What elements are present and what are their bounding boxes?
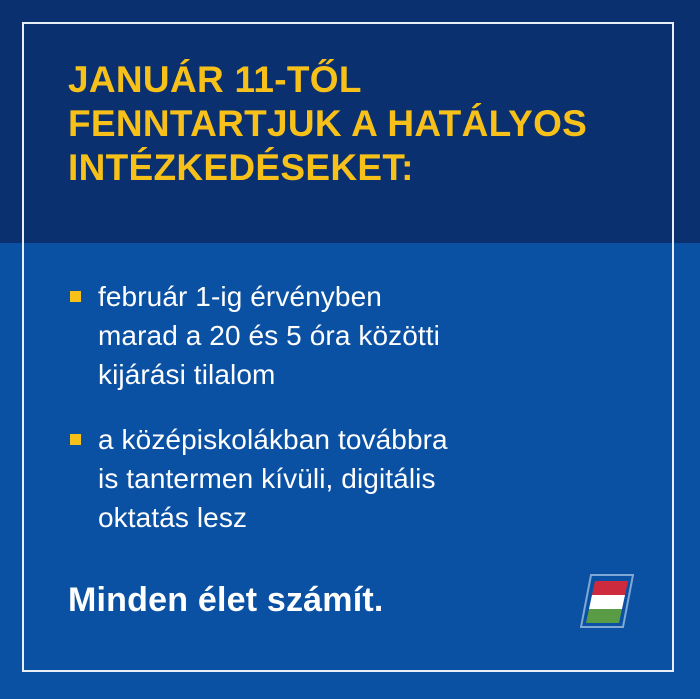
bullet-2-line-3: oktatás lesz xyxy=(98,498,628,537)
bullet-2-line-1: a középiskolákban továbbra xyxy=(98,420,628,459)
list-item: a középiskolákban továbbra is tantermen … xyxy=(68,420,628,537)
headline-line-1: JANUÁR 11-TŐL xyxy=(68,58,658,102)
hungarian-flag-icon xyxy=(580,572,634,630)
list-item: február 1-ig érvényben marad a 20 és 5 ó… xyxy=(68,277,628,394)
square-bullet-icon xyxy=(70,434,81,445)
bullet-1-line-3: kijárási tilalom xyxy=(98,355,628,394)
bullet-2-line-2: is tantermen kívüli, digitális xyxy=(98,459,628,498)
footer: Minden élet számít. xyxy=(68,576,634,636)
bullet-1-line-1: február 1-ig érvényben xyxy=(98,277,628,316)
square-bullet-icon xyxy=(70,291,81,302)
headline-line-3: INTÉZKEDÉSEKET: xyxy=(68,146,658,190)
poster-canvas: JANUÁR 11-TŐL FENNTARTJUK A HATÁLYOS INT… xyxy=(0,0,700,699)
page-title: JANUÁR 11-TŐL FENNTARTJUK A HATÁLYOS INT… xyxy=(68,58,658,190)
headline-line-2: FENNTARTJUK A HATÁLYOS xyxy=(68,102,658,146)
tagline: Minden élet számít. xyxy=(68,576,384,624)
measures-list: február 1-ig érvényben marad a 20 és 5 ó… xyxy=(68,277,628,537)
bullet-1-line-2: marad a 20 és 5 óra közötti xyxy=(98,316,628,355)
